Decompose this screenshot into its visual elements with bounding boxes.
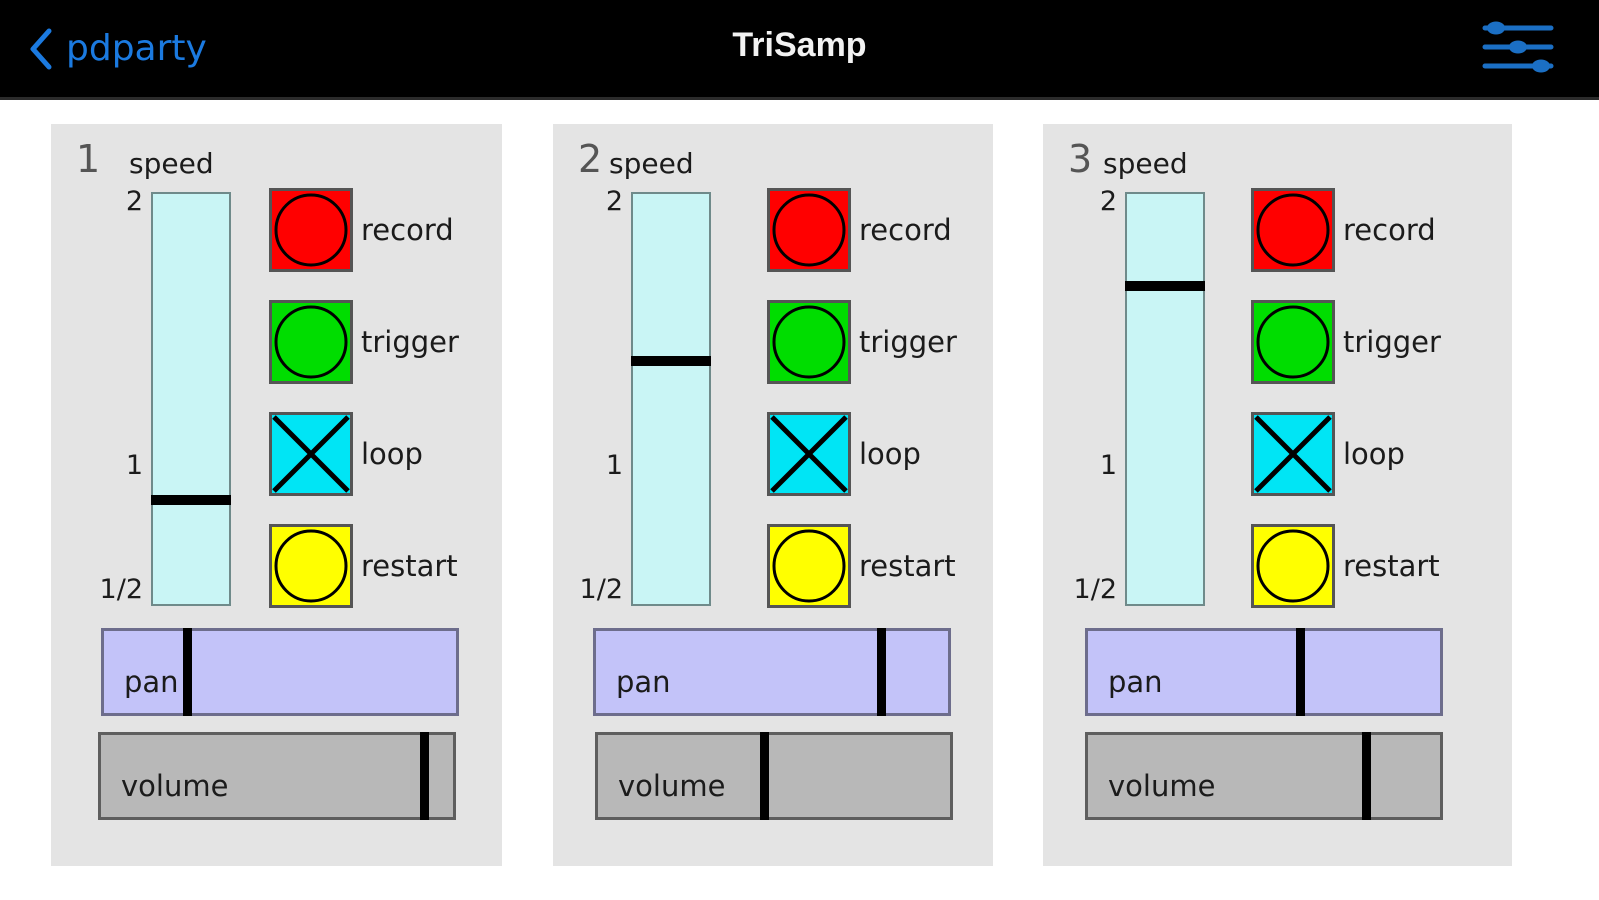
- circle-icon: [1254, 191, 1332, 269]
- speed-tick-label: 1/2: [580, 576, 623, 603]
- trigger-button-row: trigger: [269, 300, 459, 384]
- circle-icon: [1254, 303, 1332, 381]
- restart-button-label: restart: [361, 549, 458, 583]
- trigger-button-row: trigger: [1251, 300, 1441, 384]
- volume-slider-label: volume: [121, 769, 228, 803]
- speed-tick-label: 1: [606, 452, 623, 479]
- speed-tick-label: 2: [1100, 188, 1117, 215]
- circle-icon: [272, 191, 350, 269]
- speed-slider-knob[interactable]: [1125, 281, 1205, 291]
- restart-button-label: restart: [1343, 549, 1440, 583]
- trigger-button-label: trigger: [1343, 325, 1441, 359]
- record-button[interactable]: [1251, 188, 1335, 272]
- pan-slider-knob[interactable]: [183, 628, 192, 716]
- trigger-button[interactable]: [767, 300, 851, 384]
- loop-button-row: loop: [269, 412, 423, 496]
- trigger-button-label: trigger: [361, 325, 459, 359]
- record-button-label: record: [1343, 213, 1436, 247]
- record-button-label: record: [859, 213, 952, 247]
- pan-slider[interactable]: pan: [101, 628, 459, 716]
- trigger-button-row: trigger: [767, 300, 957, 384]
- panel-number: 2: [578, 140, 602, 178]
- record-button-row: record: [269, 188, 454, 272]
- record-button[interactable]: [767, 188, 851, 272]
- volume-slider[interactable]: volume: [1085, 732, 1443, 820]
- pan-slider-label: pan: [616, 665, 671, 699]
- page-title: TriSamp: [0, 26, 1599, 65]
- speed-slider[interactable]: [151, 192, 231, 606]
- circle-icon: [1254, 527, 1332, 605]
- loop-button-row: loop: [767, 412, 921, 496]
- speed-label: speed: [129, 150, 214, 178]
- speed-tick-label: 1: [126, 452, 143, 479]
- trigger-button-label: trigger: [859, 325, 957, 359]
- loop-button-label: loop: [1343, 437, 1405, 471]
- speed-tick-label: 2: [606, 188, 623, 215]
- pan-slider-knob[interactable]: [1296, 628, 1305, 716]
- circle-icon: [770, 527, 848, 605]
- navigation-bar: pdparty TriSamp: [0, 0, 1599, 100]
- loop-button[interactable]: [269, 412, 353, 496]
- speed-tick-label: 1/2: [1074, 576, 1117, 603]
- volume-slider-knob[interactable]: [760, 732, 769, 820]
- record-button-row: record: [767, 188, 952, 272]
- speed-tick-label: 2: [126, 188, 143, 215]
- cross-x-icon: [272, 415, 350, 493]
- speed-slider[interactable]: [631, 192, 711, 606]
- pan-slider[interactable]: pan: [1085, 628, 1443, 716]
- pan-slider-label: pan: [124, 665, 179, 699]
- pan-slider-label: pan: [1108, 665, 1163, 699]
- volume-slider-knob[interactable]: [1362, 732, 1371, 820]
- volume-slider-label: volume: [1108, 769, 1215, 803]
- restart-button-row: restart: [269, 524, 458, 608]
- volume-slider[interactable]: volume: [98, 732, 456, 820]
- speed-label: speed: [1103, 150, 1188, 178]
- restart-button-row: restart: [1251, 524, 1440, 608]
- record-button-row: record: [1251, 188, 1436, 272]
- speed-slider[interactable]: [1125, 192, 1205, 606]
- volume-slider-label: volume: [618, 769, 725, 803]
- circle-icon: [770, 303, 848, 381]
- pan-slider[interactable]: pan: [593, 628, 951, 716]
- cross-x-icon: [770, 415, 848, 493]
- circle-icon: [272, 303, 350, 381]
- speed-label: speed: [609, 150, 694, 178]
- record-button-label: record: [361, 213, 454, 247]
- loop-button-label: loop: [361, 437, 423, 471]
- loop-button-row: loop: [1251, 412, 1405, 496]
- record-button[interactable]: [269, 188, 353, 272]
- speed-tick-label: 1/2: [100, 576, 143, 603]
- circle-icon: [770, 191, 848, 269]
- volume-slider-knob[interactable]: [420, 732, 429, 820]
- trigger-button[interactable]: [269, 300, 353, 384]
- restart-button[interactable]: [1251, 524, 1335, 608]
- sampler-panel-2: 2speed211/2recordtriggerlooprestartpanvo…: [553, 124, 993, 866]
- sampler-panel-3: 3speed211/2recordtriggerlooprestartpanvo…: [1043, 124, 1512, 866]
- panel-number: 3: [1068, 140, 1092, 178]
- volume-slider[interactable]: volume: [595, 732, 953, 820]
- panel-number: 1: [76, 140, 100, 178]
- pan-slider-knob[interactable]: [877, 628, 886, 716]
- restart-button-row: restart: [767, 524, 956, 608]
- loop-button-label: loop: [859, 437, 921, 471]
- restart-button-label: restart: [859, 549, 956, 583]
- trigger-button[interactable]: [1251, 300, 1335, 384]
- cross-x-icon: [1254, 415, 1332, 493]
- restart-button[interactable]: [269, 524, 353, 608]
- speed-tick-label: 1: [1100, 452, 1117, 479]
- speed-slider-knob[interactable]: [151, 495, 231, 505]
- restart-button[interactable]: [767, 524, 851, 608]
- sampler-panel-1: 1speed211/2recordtriggerlooprestartpanvo…: [51, 124, 502, 866]
- sliders-settings-icon[interactable]: [1479, 14, 1557, 80]
- loop-button[interactable]: [767, 412, 851, 496]
- circle-icon: [272, 527, 350, 605]
- speed-slider-knob[interactable]: [631, 356, 711, 366]
- loop-button[interactable]: [1251, 412, 1335, 496]
